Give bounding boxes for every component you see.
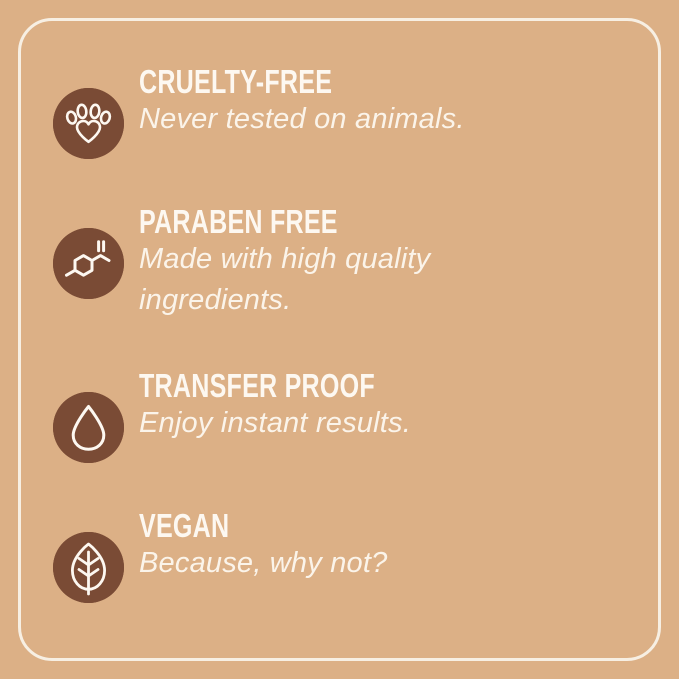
feature-subtitle: Enjoy instant results. <box>139 403 509 444</box>
feature-text-block: CRUELTY-FREE Never tested on animals. <box>139 65 659 140</box>
feature-title: TRANSFER PROOF <box>139 369 534 403</box>
feature-subtitle: Never tested on animals. <box>139 99 509 140</box>
leaf-icon <box>53 532 124 603</box>
water-droplet-icon <box>53 392 124 463</box>
feature-title: CRUELTY-FREE <box>139 65 534 99</box>
feature-list: CRUELTY-FREE Never tested on animals. <box>0 0 679 679</box>
feature-text-block: VEGAN Because, why not? <box>139 509 659 584</box>
feature-title: PARABEN FREE <box>139 205 534 239</box>
paw-print-icon <box>53 88 124 159</box>
product-benefits-card: CRUELTY-FREE Never tested on animals. <box>0 0 679 679</box>
chemical-molecule-icon <box>53 228 124 299</box>
feature-subtitle: Because, why not? <box>139 543 509 584</box>
feature-title: VEGAN <box>139 509 534 543</box>
feature-text-block: PARABEN FREE Made with high quality ingr… <box>139 205 659 321</box>
feature-text-block: TRANSFER PROOF Enjoy instant results. <box>139 369 659 444</box>
feature-subtitle: Made with high quality ingredients. <box>139 239 509 321</box>
